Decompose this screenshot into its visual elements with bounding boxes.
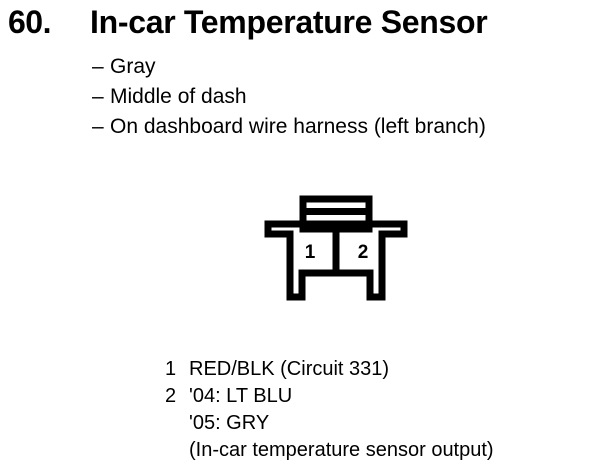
list-item: – On dashboard wire harness (left branch… [92, 112, 592, 142]
legend-pin-description: '04: LT BLU [189, 383, 292, 410]
pin-legend: 1 RED/BLK (Circuit 331) 2 '04: LT BLU 2 … [165, 356, 585, 464]
connector-diagram: 1 2 [258, 193, 418, 308]
legend-row: 1 RED/BLK (Circuit 331) [165, 356, 585, 383]
connector-illustration: 1 2 [258, 193, 418, 308]
list-item-label: Gray [110, 52, 156, 82]
page-title: In-car Temperature Sensor [90, 2, 487, 42]
dash-bullet-icon: – [92, 112, 110, 142]
pin-number-2: 2 [358, 242, 369, 263]
legend-pin-description: '05: GRY [189, 410, 269, 437]
legend-pin-number: 2 [165, 383, 189, 410]
legend-row: 2 '04: LT BLU [165, 383, 585, 410]
legend-pin-number: 1 [165, 356, 189, 383]
legend-pin-description: RED/BLK (Circuit 331) [189, 356, 389, 383]
legend-row: 2 '05: GRY [165, 410, 585, 437]
legend-pin-description: (In-car temperature sensor output) [189, 437, 494, 464]
list-item-label: On dashboard wire harness (left branch) [110, 112, 486, 142]
list-item: – Middle of dash [92, 82, 592, 112]
legend-row: 2 (In-car temperature sensor output) [165, 437, 585, 464]
list-item-label: Middle of dash [110, 82, 247, 112]
section-number: 60. [8, 2, 51, 42]
dash-bullet-icon: – [92, 52, 110, 82]
diagram-page: 60. In-car Temperature Sensor – Gray – M… [0, 0, 608, 472]
description-list: – Gray – Middle of dash – On dashboard w… [92, 52, 592, 142]
dash-bullet-icon: – [92, 82, 110, 112]
page-header: 60. In-car Temperature Sensor [0, 2, 608, 46]
pin-number-1: 1 [305, 242, 316, 263]
list-item: – Gray [92, 52, 592, 82]
